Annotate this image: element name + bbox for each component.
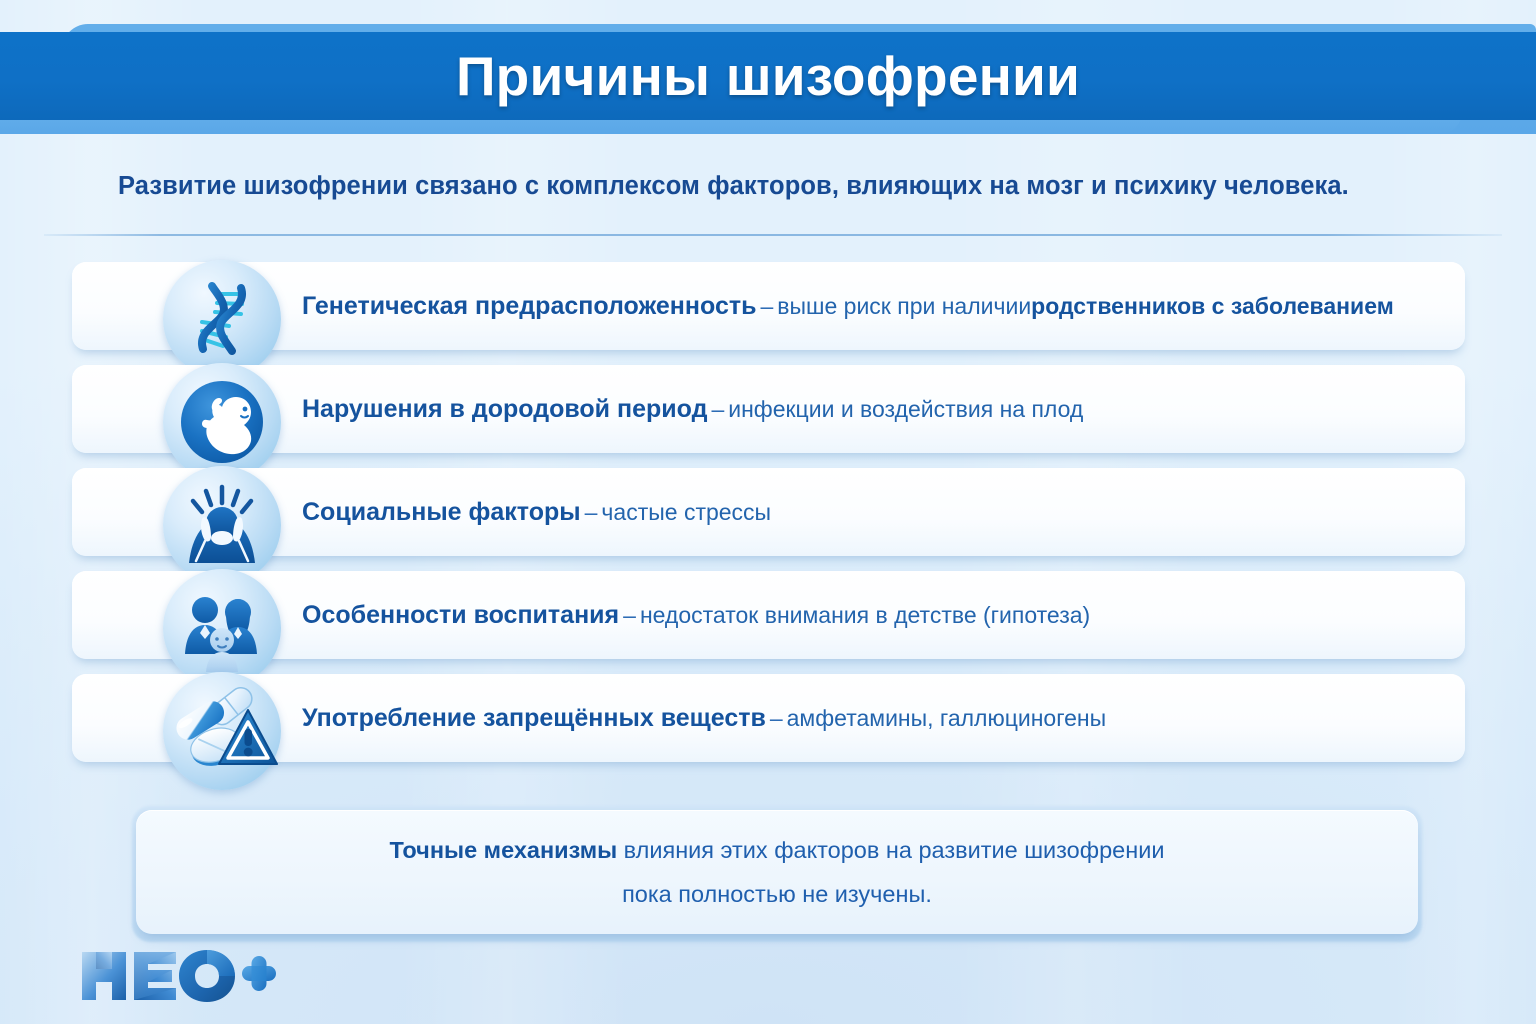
list-item[interactable]: Употребление запрещённых веществ – амфет… [0, 674, 1536, 770]
factor-dash: – [619, 602, 640, 629]
factor-list: Генетическая предрасположенность – выше … [0, 262, 1536, 777]
dna-helix-icon [163, 260, 281, 378]
header: Причины шизофрении [0, 0, 1536, 140]
factor-dash: – [766, 705, 787, 732]
factor-dash: – [707, 396, 728, 423]
factor-text: Генетическая предрасположенность – выше … [302, 262, 1394, 350]
intro-text: Развитие шизофрении связано с комплексом… [118, 172, 1438, 201]
list-item[interactable]: Нарушения в дородовой период – инфекции … [0, 365, 1536, 461]
factor-lead: Социальные факторы [302, 498, 581, 527]
factor-dash: – [756, 293, 777, 320]
factor-dash: – [581, 499, 602, 526]
factor-detail: инфекции и воздействия на плод [728, 396, 1083, 423]
factor-detail: амфетамины, галлюциногены [787, 705, 1106, 732]
factor-detail-emphasis: родственников с заболеванием [1031, 293, 1394, 320]
fetus-icon [163, 363, 281, 481]
list-item[interactable]: Социальные факторы – частые стрессы [0, 468, 1536, 564]
factor-text: Употребление запрещённых веществ – амфет… [302, 674, 1106, 762]
divider [44, 234, 1502, 236]
factor-lead: Нарушения в дородовой период [302, 395, 707, 424]
list-item[interactable]: Особенности воспитания – недостаток вним… [0, 571, 1536, 667]
factor-detail: выше риск при наличии [777, 293, 1031, 320]
factor-text: Особенности воспитания – недостаток вним… [302, 571, 1090, 659]
factor-detail: недостаток внимания в детстве (гипотеза) [640, 602, 1090, 629]
conclusion-line-2: пока полностью не изучены. [622, 872, 932, 916]
conclusion-box: Точные механизмы влияния этих факторов н… [136, 810, 1418, 934]
factor-detail: частые стрессы [601, 499, 771, 526]
page-title: Причины шизофрении [0, 34, 1536, 118]
factor-lead: Особенности воспитания [302, 601, 619, 630]
stressed-person-icon [163, 466, 281, 584]
conclusion-line-1-rest: влияния этих факторов на развитие шизофр… [617, 837, 1164, 863]
factor-lead: Употребление запрещённых веществ [302, 704, 766, 733]
conclusion-emphasis: Точные механизмы [390, 837, 618, 863]
list-item[interactable]: Генетическая предрасположенность – выше … [0, 262, 1536, 358]
neo-plus-logo[interactable] [78, 944, 278, 1006]
family-icon [163, 569, 281, 687]
factor-text: Нарушения в дородовой период – инфекции … [302, 365, 1083, 453]
factor-text: Социальные факторы – частые стрессы [302, 468, 771, 556]
factor-lead: Генетическая предрасположенность [302, 292, 756, 321]
conclusion-line-1: Точные механизмы влияния этих факторов н… [390, 828, 1165, 872]
pills-warning-icon [163, 672, 281, 790]
infographic-poster: Причины шизофрении Развитие шизофрении с… [0, 0, 1536, 1024]
